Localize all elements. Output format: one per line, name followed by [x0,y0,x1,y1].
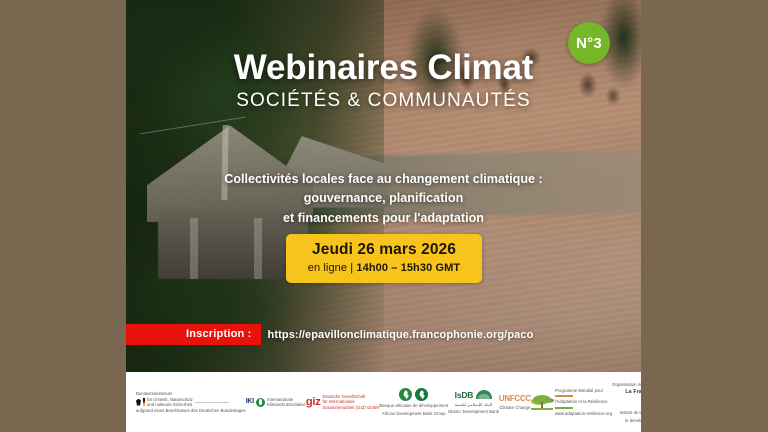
theme-line-3: et financements pour l'adaptation [166,209,601,228]
logo-adaptation-text: Programme Mondial pour l'Adaptation et l… [555,388,612,416]
poster-content: N°3 Webinaires Climat SOCIÉTÉS & COMMUNA… [126,0,641,372]
logo-afdb-line1: Banque africaine de développement [379,403,448,408]
tree-baseline [531,408,553,410]
logo-isdb-line1: البنك الإسلامي للتنمية [455,402,492,407]
logo-unfccc-line1: Climate Change [499,405,530,410]
screenshot-stage: N°3 Webinaires Climat SOCIÉTÉS & COMMUNA… [0,0,768,432]
logo-oif-line1: Organisation internationale de [612,382,641,387]
logo-isdb-line2: Islamic Development Bank [448,409,499,414]
logo-adaptation-line2: l'Adaptation et la Résilience [555,399,608,404]
logo-oif-mark: La Francophonie [625,389,641,396]
logo-bmu-footnote: aufgrund eines Beschlusses des Deutschen… [136,408,246,413]
logo-afdb-line2: African Development Bank Group [382,411,446,416]
africa-map-icon-secondary [415,388,428,401]
event-time: en ligne | 14h00 – 15h30 GMT [292,262,476,274]
theme-line-2: gouvernance, planification [166,189,601,208]
logo-adaptation-programme: Programme Mondial pour l'Adaptation et l… [531,388,612,416]
isdb-marks: IsDB [455,390,493,400]
date-badge: Jeudi 26 mars 2026 en ligne | 14h00 – 15… [286,234,482,283]
logo-iki: IKI Internationale Klimaschutzinitiative [246,397,306,408]
logo-ifdd-line2: le développement durable [625,418,641,423]
logo-isdb: IsDB البنك الإسلامي للتنمية Islamic Deve… [448,390,499,415]
logo-bmu-line1: Bundesministerium [136,391,172,396]
logo-oif-text: Organisation internationale de La Franco… [612,382,641,396]
page-subtitle: SOCIÉTÉS & COMMUNAUTÉS [126,90,641,112]
logo-francophonie-group: Organisation internationale de La Franco… [612,381,641,423]
event-date: Jeudi 26 mars 2026 [292,241,476,259]
logo-adaptation-green-bar [555,407,573,409]
logo-adaptation-line1: Programme Mondial pour [555,388,603,393]
logo-adaptation-line3: www.adaptation-resilience.org [555,411,612,416]
logo-giz: giz Deutsche Gesellschaft für Internatio… [306,394,380,410]
logo-bmu-mark: für Umwelt, Naturschutz und nukleare Sic… [136,397,229,408]
event-mode: en ligne | [308,262,357,274]
africa-map-icon [399,388,412,401]
registration-url[interactable]: https://epavillonclimatique.francophonie… [268,329,534,341]
registration-label: Inscription : [126,324,261,345]
page-title: Webinaires Climat [126,48,641,88]
logo-ifdd: ifdd Institut de la Francophonie pour le… [620,398,641,423]
logo-ifdd-line1: Institut de la Francophonie pour [620,410,641,415]
webinar-poster: N°3 Webinaires Climat SOCIÉTÉS & COMMUNA… [126,0,641,432]
logo-giz-mark: giz [306,396,321,408]
partner-logo-strip: Bundesministerium für Umwelt, Naturschut… [126,372,641,432]
isdb-dome-icon [476,390,492,399]
logo-iki-mark: IKI [246,398,254,407]
event-time-range: 14h00 – 15h30 GMT [356,262,460,274]
logo-iki-line2: Klimaschutzinitiative [267,402,306,407]
logo-bmu: Bundesministerium für Umwelt, Naturschut… [136,391,246,414]
tree-icon [531,395,553,410]
logo-unfccc-mark: UNFCCC [499,394,531,403]
registration-bar: Inscription : https://epavillonclimatiqu… [126,324,641,345]
iki-leaf-icon [256,398,265,407]
webinar-theme: Collectivités locales face au changement… [166,170,601,228]
logo-bmu-line3: und nukleare Sicherheit [147,402,193,407]
german-flag-icon [143,398,145,406]
logo-isdb-mark: IsDB [455,390,474,400]
logo-giz-line3: Zusammenarbeit (GIZ) GmbH [323,405,380,410]
logo-adaptation-orange-bar [555,395,573,397]
theme-line-1: Collectivités locales face au changement… [166,170,601,189]
german-eagle-icon [136,399,141,406]
logo-oif: Organisation internationale de La Franco… [612,381,641,396]
logo-afdb: Banque africaine de développement Africa… [379,388,448,416]
logo-bmu-rule [195,402,229,403]
afdb-marks [399,388,428,401]
logo-unfccc: UNFCCC Climate Change [499,394,531,410]
